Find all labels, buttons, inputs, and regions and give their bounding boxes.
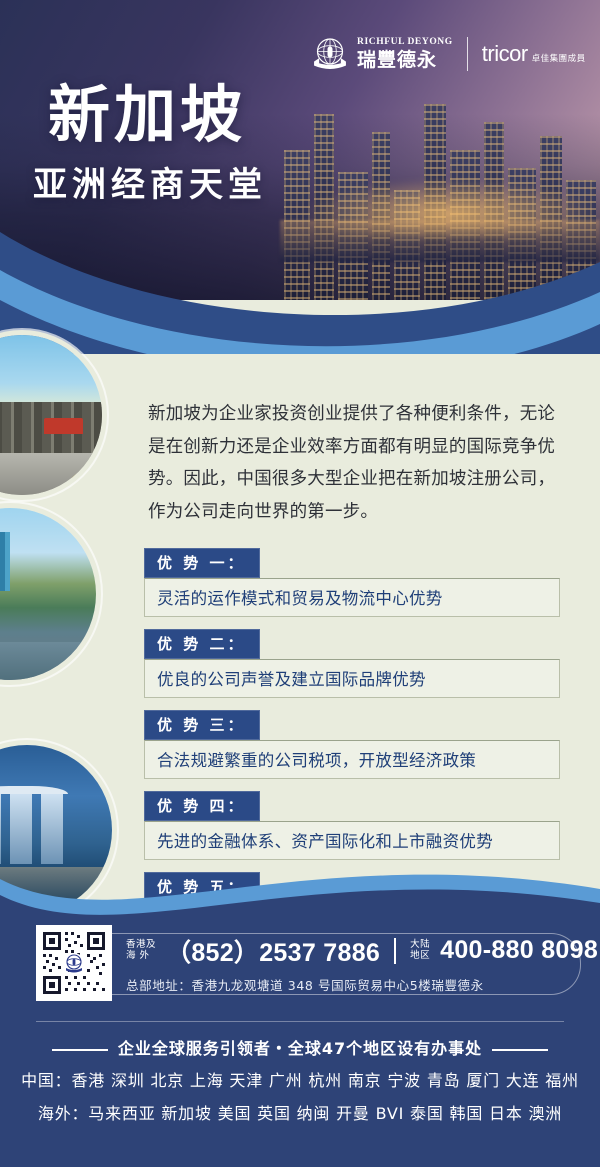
poster-root: RICHFUL DEYONG 瑞豐德永 tricor 卓佳集團成員 新加坡 亚洲… xyxy=(0,0,600,1167)
cn-phone-number[interactable]: 400-880 8098 xyxy=(440,936,598,965)
cn-phone-label-line1: 大陆 xyxy=(410,940,430,951)
region-list: 中国：香港 深圳 北京 上海 天津 广州 杭州 南京 宁波 青岛 厦门 大连 福… xyxy=(0,1067,600,1133)
phone-separator xyxy=(394,938,396,964)
slogan-rule-left xyxy=(52,1049,108,1051)
richful-deyong-crest-icon xyxy=(310,34,350,74)
contact-details: 香港及 海 外 （852）2537 7886 大陆 地区 400-880 809… xyxy=(126,933,598,994)
brand-chinese-name: 瑞豐德永 xyxy=(357,51,453,70)
page-subtitle: 亚洲经商天堂 xyxy=(33,168,267,202)
qr-code-graphic xyxy=(39,928,109,998)
advantage-text: 合法规避繁重的公司税项，开放型经济政策 xyxy=(144,740,560,779)
brand-english-name: RICHFUL DEYONG xyxy=(357,38,453,48)
advantage-item: 优 势 一： 灵活的运作模式和贸易及物流中心优势 xyxy=(144,548,560,617)
footer-slogan: 企业全球服务引领者・全球47个地区设有办事处 xyxy=(0,1035,600,1059)
hk-phone-label: 香港及 海 外 xyxy=(126,940,156,962)
hk-phone-label-line1: 香港及 xyxy=(126,940,156,951)
head-office-address: 总部地址：香港九龙观塘道 348 号国际贸易中心5楼瑞豐德永 xyxy=(126,975,598,994)
region-row-overseas: 海外：马来西亚 新加坡 美国 英国 纳闽 开曼 BVI 泰国 韩国 日本 澳洲 xyxy=(0,1100,600,1124)
hk-phone-number[interactable]: （852）2537 7886 xyxy=(166,933,380,969)
partner-name: tricor xyxy=(482,41,528,67)
advantage-text: 灵活的运作模式和贸易及物流中心优势 xyxy=(144,578,560,617)
partner-note: 卓佳集團成員 xyxy=(532,52,586,67)
footer-divider xyxy=(36,1021,564,1022)
contact-block: 香港及 海 外 （852）2537 7886 大陆 地区 400-880 809… xyxy=(36,925,598,1001)
cn-phone-label-line2: 地区 xyxy=(410,951,430,962)
advantage-item: 优 势 三： 合法规避繁重的公司税项，开放型经济政策 xyxy=(144,710,560,779)
advantage-text: 优良的公司声誉及建立国际品牌优势 xyxy=(144,659,560,698)
singapore-shophouse-street-photo xyxy=(0,335,102,495)
partner-logo: tricor 卓佳集團成員 xyxy=(482,41,586,67)
qr-code-icon[interactable] xyxy=(36,925,112,1001)
brand-name-block: RICHFUL DEYONG 瑞豐德永 xyxy=(357,38,453,70)
footer: 香港及 海 外 （852）2537 7886 大陆 地区 400-880 809… xyxy=(0,907,600,1167)
intro-paragraph: 新加坡为企业家投资创业提供了各种便利条件，无论是在创新力还是企业效率方面都有明显… xyxy=(148,398,560,528)
advantage-label: 优 势 四： xyxy=(144,791,260,821)
advantage-label: 优 势 二： xyxy=(144,629,260,659)
logo-divider xyxy=(467,37,468,71)
page-title: 新加坡 xyxy=(48,84,246,146)
slogan-text: 企业全球服务引领者・全球47个地区设有办事处 xyxy=(118,1039,482,1058)
singapore-city-skyline-photo xyxy=(0,508,96,680)
slogan-rule-right xyxy=(492,1049,548,1051)
advantage-label: 优 势 三： xyxy=(144,710,260,740)
footer-wave-divider xyxy=(0,845,600,925)
advantage-label: 优 势 一： xyxy=(144,548,260,578)
hk-phone-label-line2: 海 外 xyxy=(126,951,156,962)
phone-row: 香港及 海 外 （852）2537 7886 大陆 地区 400-880 809… xyxy=(126,933,598,969)
advantage-item: 优 势 二： 优良的公司声誉及建立国际品牌优势 xyxy=(144,629,560,698)
hero-curve-divider xyxy=(0,214,600,354)
region-row-china: 中国：香港 深圳 北京 上海 天津 广州 杭州 南京 宁波 青岛 厦门 大连 福… xyxy=(0,1067,600,1091)
brand-logo: RICHFUL DEYONG 瑞豐德永 tricor 卓佳集團成員 xyxy=(310,34,586,74)
cn-phone-label: 大陆 地区 xyxy=(410,940,430,962)
